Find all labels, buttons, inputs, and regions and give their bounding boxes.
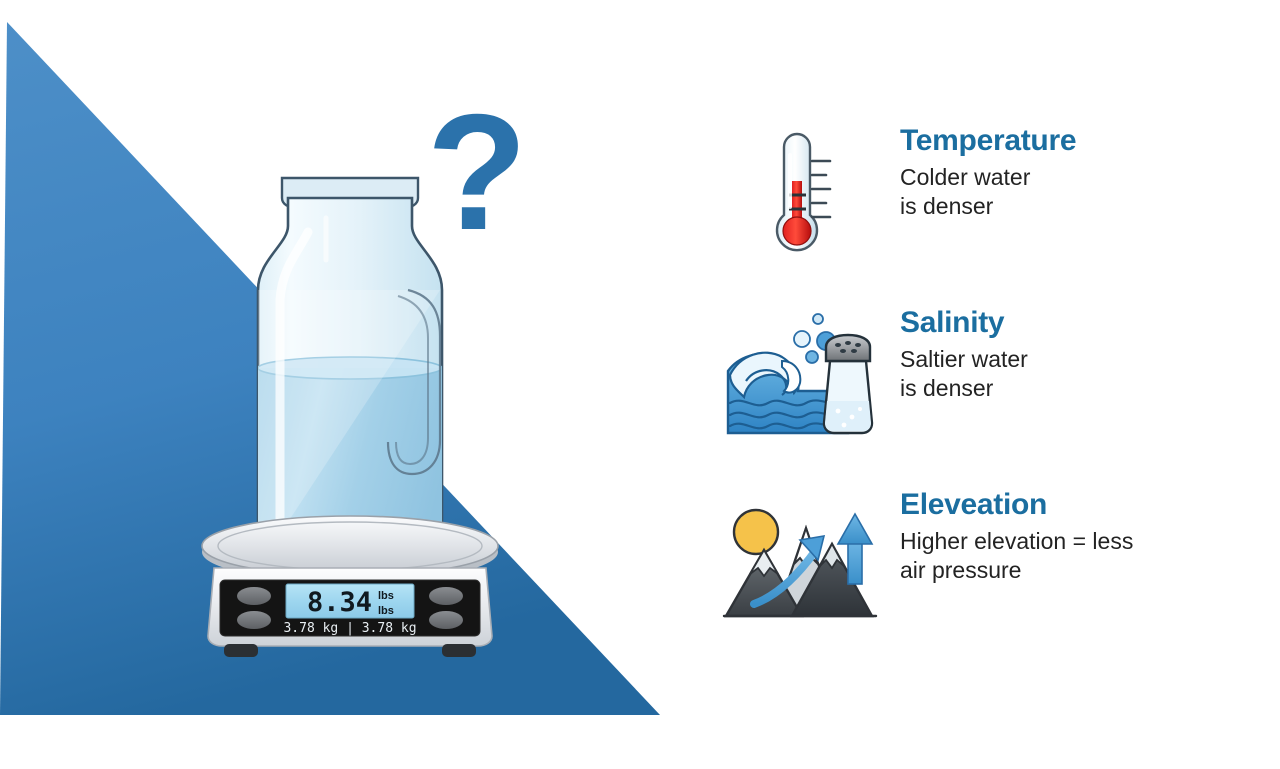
factor-description: Colder water is denser — [900, 163, 1076, 222]
factor-description: Higher elevation = less air pressure — [900, 527, 1133, 586]
kitchen-scale: 8.34 lbs lbs 3.78 kg | 3.78 kg — [202, 516, 498, 657]
factor-heading: Eleveation — [900, 488, 1133, 521]
scale-display-secondary-line: 3.78 kg | 3.78 kg — [283, 621, 416, 636]
wave-salt-shaker-icon — [700, 300, 900, 450]
factors-list: Temperature Colder water is denser — [700, 100, 1260, 660]
mountain-elevation-icon — [700, 482, 900, 632]
list-item: Salinity Saltier water is denser — [700, 300, 1260, 450]
list-item: Eleveation Higher elevation = less air p… — [700, 482, 1260, 632]
scale-display-unit-secondary: lbs — [378, 605, 394, 617]
scale-display-value: 8.34 — [307, 587, 372, 618]
list-item: Temperature Colder water is denser — [700, 118, 1260, 268]
water-jug-on-scale-illustration: 8.34 lbs lbs 3.78 kg | 3.78 kg — [140, 140, 560, 680]
factor-description: Saltier water is denser — [900, 345, 1028, 404]
factor-heading: Salinity — [900, 306, 1028, 339]
thermometer-icon — [700, 118, 900, 268]
infographic-canvas: ? — [0, 0, 1280, 769]
factor-heading: Temperature — [900, 124, 1076, 157]
scale-display-unit-primary: lbs — [378, 590, 394, 602]
